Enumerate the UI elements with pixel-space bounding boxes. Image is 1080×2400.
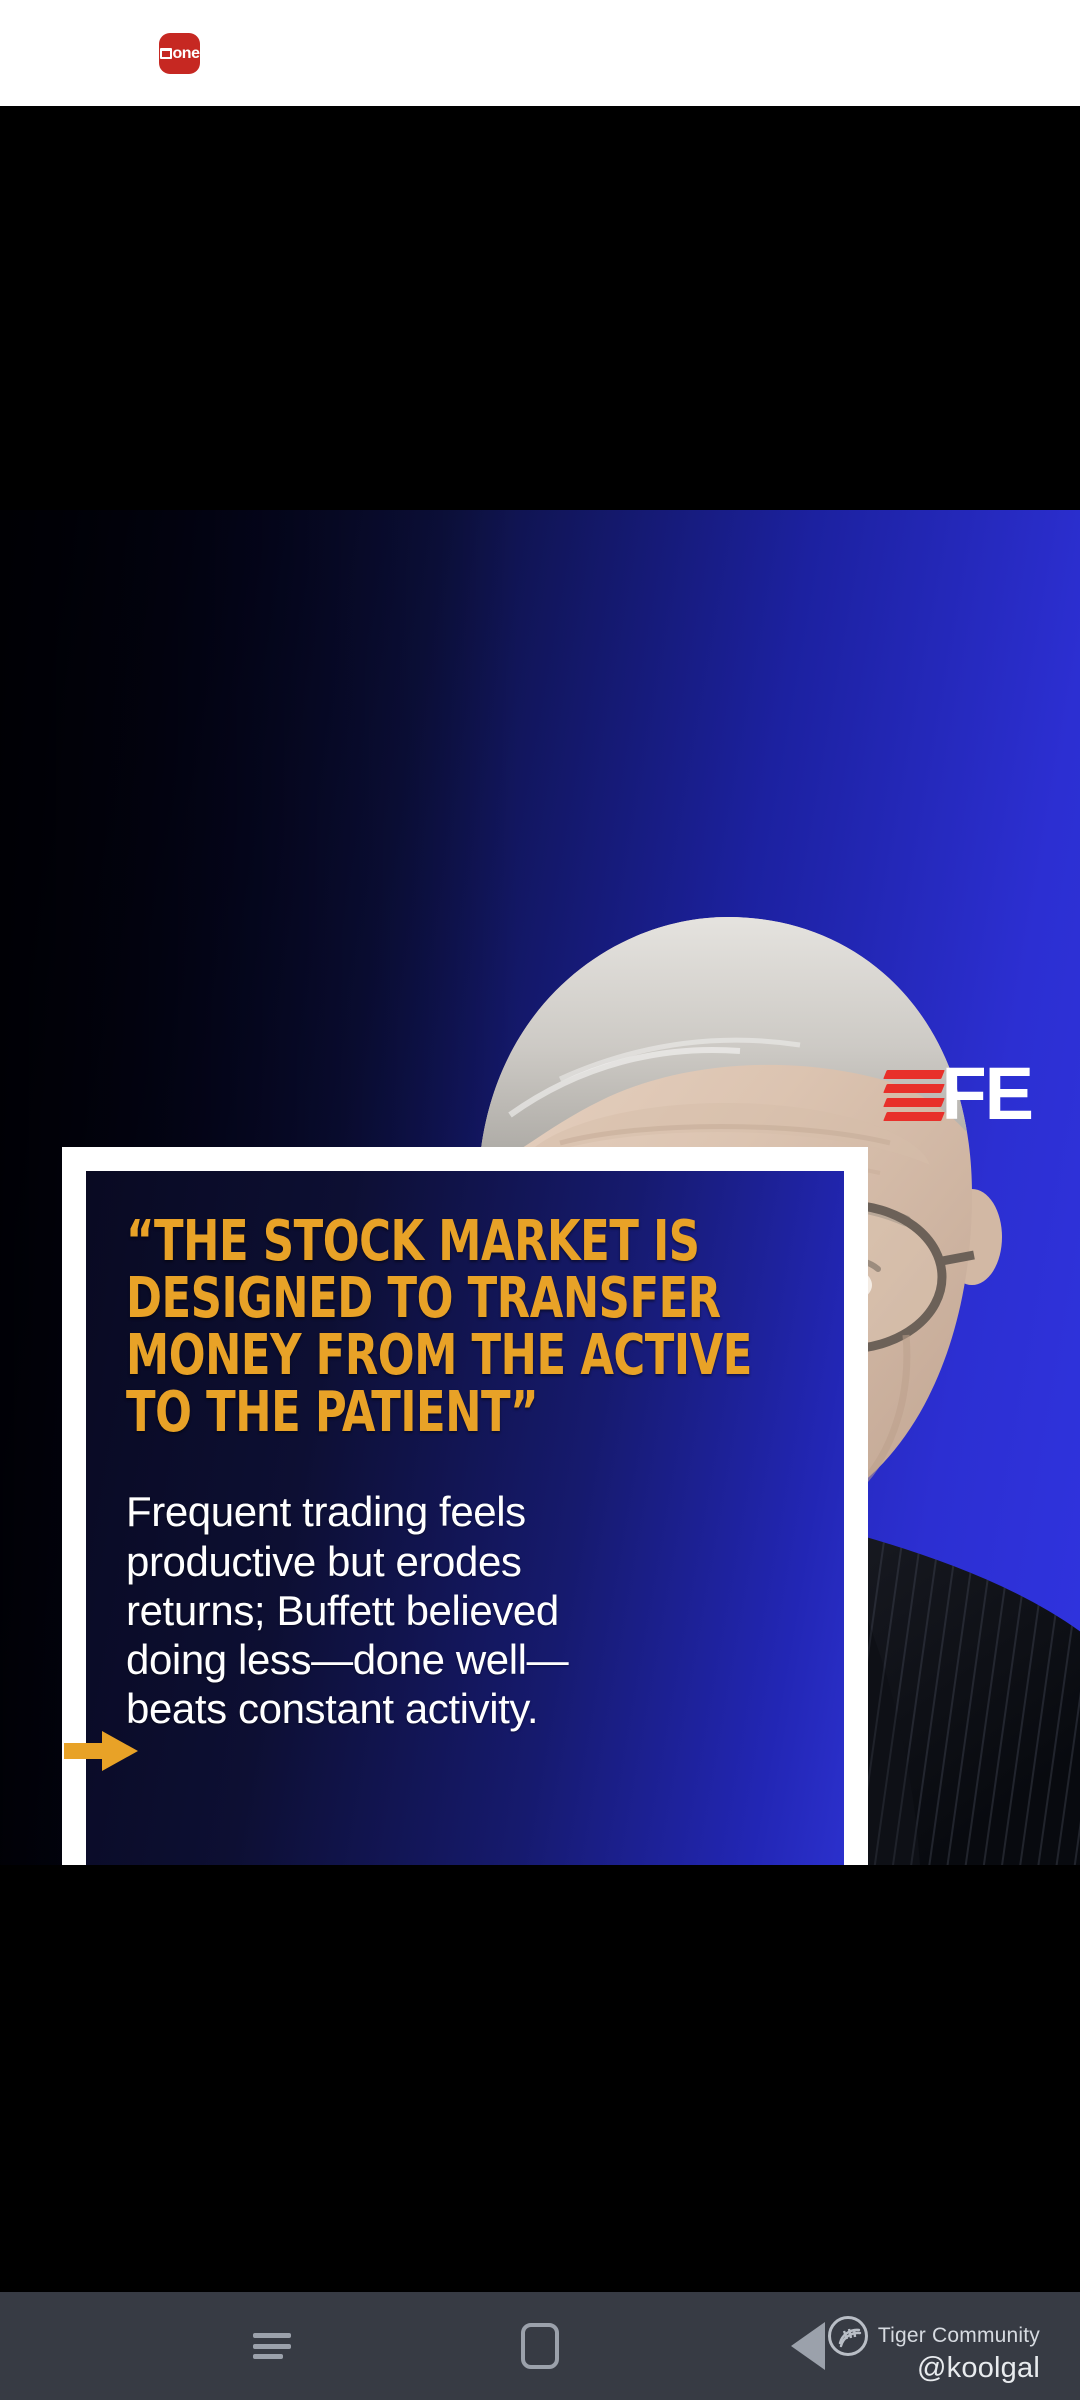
next-arrow-icon[interactable] xyxy=(62,1725,140,1777)
recents-button[interactable] xyxy=(192,2292,352,2400)
watermark-handle: @koolgal xyxy=(917,2352,1040,2385)
recents-icon xyxy=(253,2333,291,2359)
fe-stripes-icon xyxy=(891,1062,943,1126)
fe-logo: FE xyxy=(891,1062,1032,1126)
status-bar: one xyxy=(0,0,1080,106)
watermark: Tiger Community @koolgal xyxy=(764,2294,1064,2398)
quote-panel: “THE STOCK MARKET IS DESIGNED TO TRANSFE… xyxy=(86,1171,844,1865)
quote-frame: “THE STOCK MARKET IS DESIGNED TO TRANSFE… xyxy=(62,1147,868,1865)
app-icon[interactable]: one xyxy=(159,33,200,74)
tiger-community-icon xyxy=(828,2316,868,2356)
phone-screen: one xyxy=(0,0,1080,2400)
app-icon-label: one xyxy=(173,46,200,62)
fe-wordmark: FE xyxy=(941,1064,1032,1125)
watermark-community-name: Tiger Community xyxy=(878,2324,1040,2348)
quote-headline: “THE STOCK MARKET IS DESIGNED TO TRANSFE… xyxy=(126,1213,802,1441)
home-button[interactable] xyxy=(460,2292,620,2400)
home-icon xyxy=(521,2323,559,2369)
app-icon-badge xyxy=(160,48,172,59)
android-nav-bar: Tiger Community @koolgal xyxy=(0,2292,1080,2400)
watermark-brand: Tiger Community xyxy=(828,2316,1040,2356)
quote-body: Frequent trading feels productive but er… xyxy=(126,1487,631,1733)
quote-card[interactable]: FE “THE STOCK MARKET IS DESIGNED TO TRAN… xyxy=(0,510,1080,1865)
